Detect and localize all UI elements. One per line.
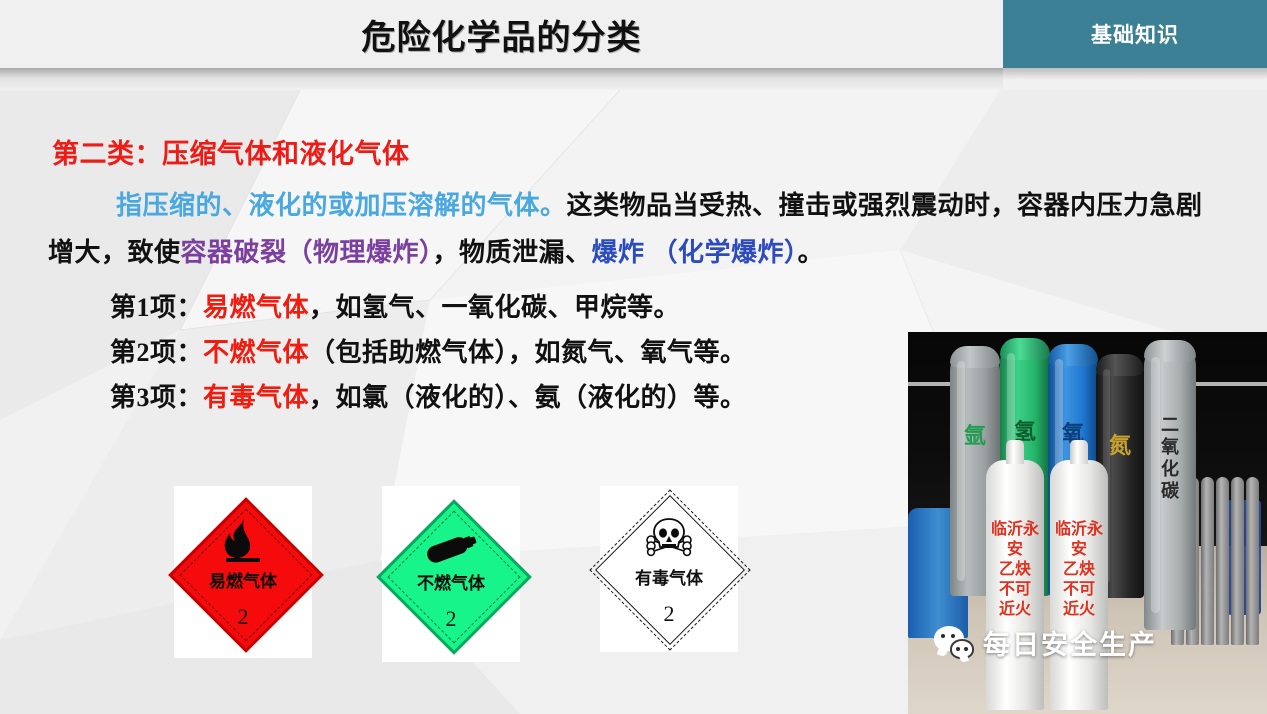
cylinder-warning-text: 临沂永安 乙炔 不可 近火 — [986, 520, 1044, 620]
placard-diamond — [376, 499, 532, 655]
placard-diamond — [168, 497, 324, 653]
watermark-text: 每日安全生产 — [983, 623, 1157, 662]
cylinder-valve — [1006, 440, 1024, 464]
cylinder-carbon-dioxide: 二氧化碳 — [1144, 340, 1196, 630]
watermark: 每日安全生产 — [934, 623, 1157, 662]
cylinder-acetylene-2: 临沂永安 乙炔 不可 近火 — [1050, 460, 1108, 710]
placard-toxic-gas: 有毒气体 2 — [600, 486, 738, 652]
cylinder-warning-text: 临沂永安 乙炔 不可 近火 — [1050, 520, 1108, 620]
cylinder-gas-label: 氩 — [950, 424, 1000, 448]
placard-diamond — [595, 495, 745, 645]
placard-flammable-gas: 易燃气体 2 — [174, 486, 312, 658]
cylinder-acetylene-1: 临沂永安 乙炔 不可 近火 — [986, 460, 1044, 710]
placard-non-flammable-gas: 不燃气体 2 — [382, 486, 520, 662]
cylinder-gas-label: 氮 — [1096, 434, 1144, 458]
cylinder-valve — [1070, 440, 1088, 464]
slide: 危险化学品的分类 基础知识 第二类：压缩气体和液化气体 指压缩的、液化的或加压溶… — [0, 0, 1267, 714]
cylinder-gas-label-vertical: 二氧化碳 — [1144, 414, 1196, 502]
wechat-icon — [934, 626, 974, 659]
gas-cylinder-photo: 氩 氢 氧 氮 二氧化碳 临沂永安 乙 — [908, 332, 1267, 714]
